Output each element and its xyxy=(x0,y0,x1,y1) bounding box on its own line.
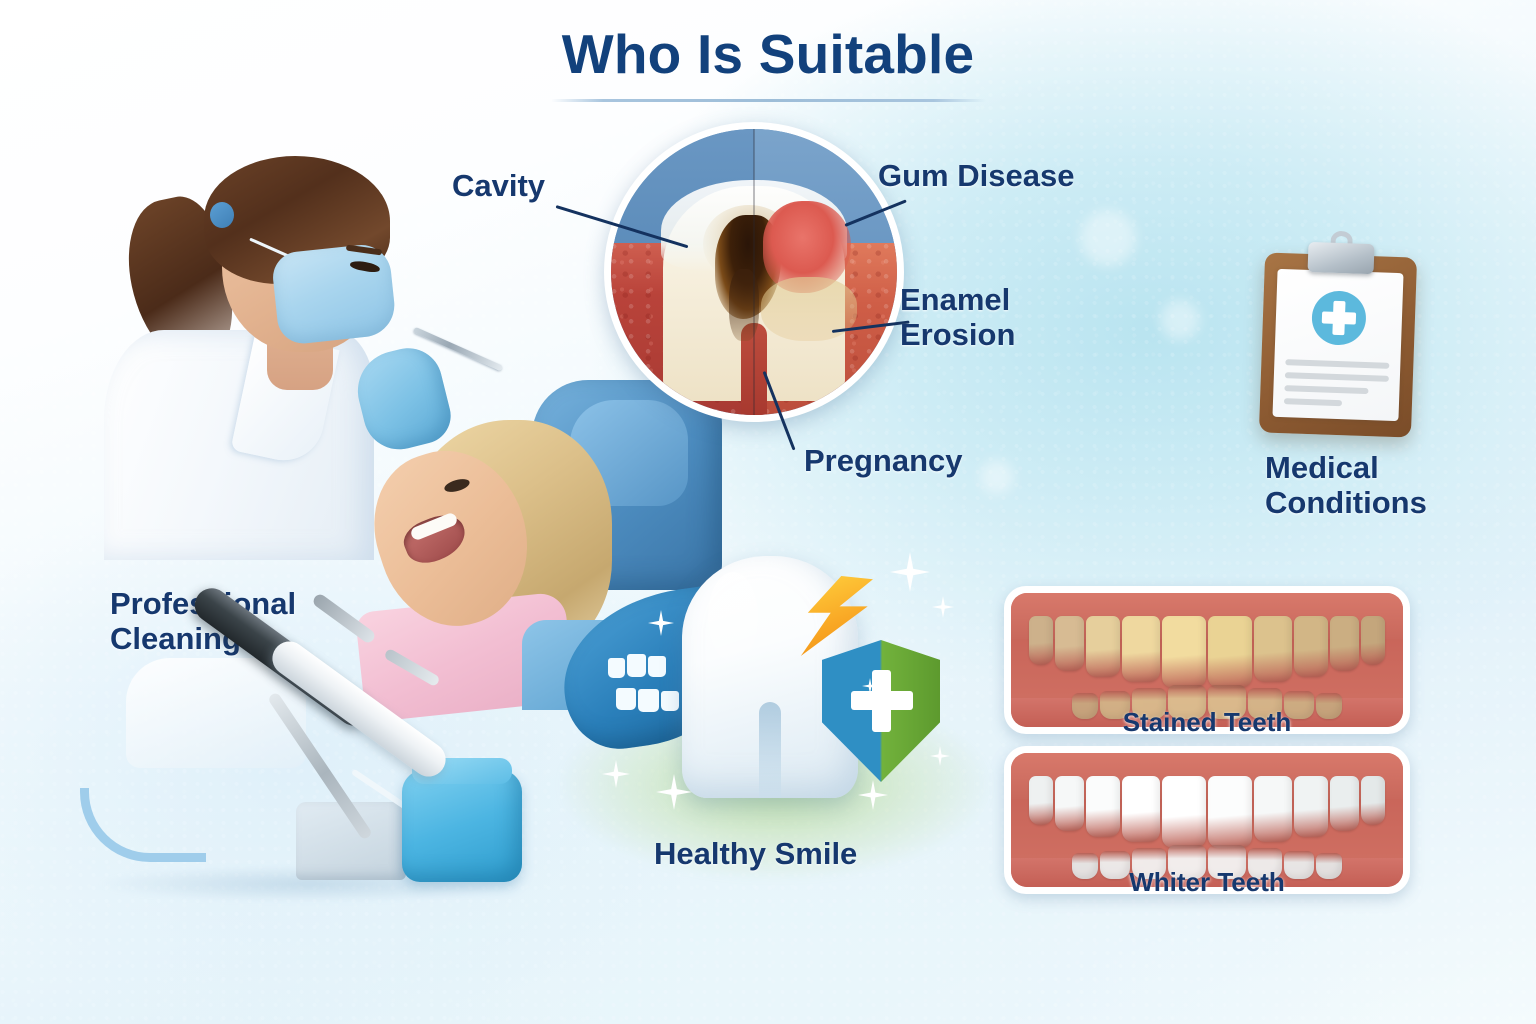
tooth xyxy=(1361,776,1385,826)
smile-tooth xyxy=(661,691,679,711)
upper-teeth-row xyxy=(1011,776,1403,851)
page-title-block: Who Is Suitable xyxy=(0,22,1536,102)
tooth xyxy=(1086,776,1120,837)
bokeh-dot xyxy=(980,460,1014,494)
bokeh-dot xyxy=(1080,210,1136,266)
tooth xyxy=(1086,616,1120,677)
tooth xyxy=(1162,776,1206,848)
tooth xyxy=(1029,776,1053,826)
comparison-panel-stained: Stained Teeth xyxy=(1004,586,1410,734)
surgical-mask xyxy=(271,242,398,346)
callout-label-cavity: Cavity xyxy=(452,168,545,203)
hair-tie xyxy=(210,202,234,228)
tooth xyxy=(1294,776,1328,837)
tooth xyxy=(1055,776,1084,831)
caption-whiter-teeth: Whiter Teeth xyxy=(1004,867,1410,898)
sparkle-icon xyxy=(930,746,950,766)
tooth xyxy=(1029,616,1053,666)
dental-tools-group xyxy=(60,630,550,930)
tooth xyxy=(1361,616,1385,666)
bokeh-dot xyxy=(1160,300,1200,340)
infographic-canvas: Who Is Suitable xyxy=(0,0,1536,1024)
sparkle-icon xyxy=(602,760,630,788)
label-medical-conditions: Medical Conditions xyxy=(1265,450,1427,521)
shield-cross-icon xyxy=(851,691,913,710)
diagram-split-line xyxy=(753,129,755,415)
callout-label-enamel-erosion: Enamel Erosion xyxy=(900,282,1015,353)
sparkle-icon xyxy=(932,596,954,618)
callout-label-pregnancy: Pregnancy xyxy=(804,443,963,478)
tooth-cross-section-diagram xyxy=(604,122,904,422)
healthy-smile-illustration xyxy=(560,548,970,848)
sparkle-icon xyxy=(890,552,930,592)
smile-tooth xyxy=(638,689,659,712)
handpiece-hose xyxy=(80,788,206,862)
tooth xyxy=(1294,616,1328,677)
clipboard-icon xyxy=(1259,252,1417,437)
tooth xyxy=(1208,776,1252,848)
caption-stained-teeth: Stained Teeth xyxy=(1004,707,1410,738)
callout-label-gum-disease: Gum Disease xyxy=(878,158,1074,193)
smile-tooth xyxy=(608,658,625,678)
tooth-highlight xyxy=(708,572,758,662)
tooth xyxy=(1162,616,1206,688)
smile-tooth xyxy=(616,688,636,710)
tooth xyxy=(1254,776,1293,843)
clipboard-clip xyxy=(1308,242,1375,274)
tooth xyxy=(1330,616,1359,671)
smile-tooth xyxy=(648,656,666,677)
sparkle-icon xyxy=(858,780,888,810)
smile-tooth xyxy=(627,654,646,677)
tooth xyxy=(1208,616,1252,688)
white-handpiece-tip xyxy=(383,648,440,688)
page-title: Who Is Suitable xyxy=(0,22,1536,86)
upper-teeth-row xyxy=(1011,616,1403,691)
floss-container xyxy=(402,770,522,882)
title-underline xyxy=(551,99,986,102)
tooth xyxy=(1330,776,1359,831)
medical-cross-icon xyxy=(1322,311,1356,324)
tooth xyxy=(1254,616,1293,683)
tooth xyxy=(1122,616,1161,683)
label-healthy-smile: Healthy Smile xyxy=(654,836,857,871)
tooth xyxy=(1055,616,1084,671)
comparison-panel-whiter: Whiter Teeth xyxy=(1004,746,1410,894)
tooth-root-notch xyxy=(759,702,781,798)
tooth xyxy=(1122,776,1161,843)
